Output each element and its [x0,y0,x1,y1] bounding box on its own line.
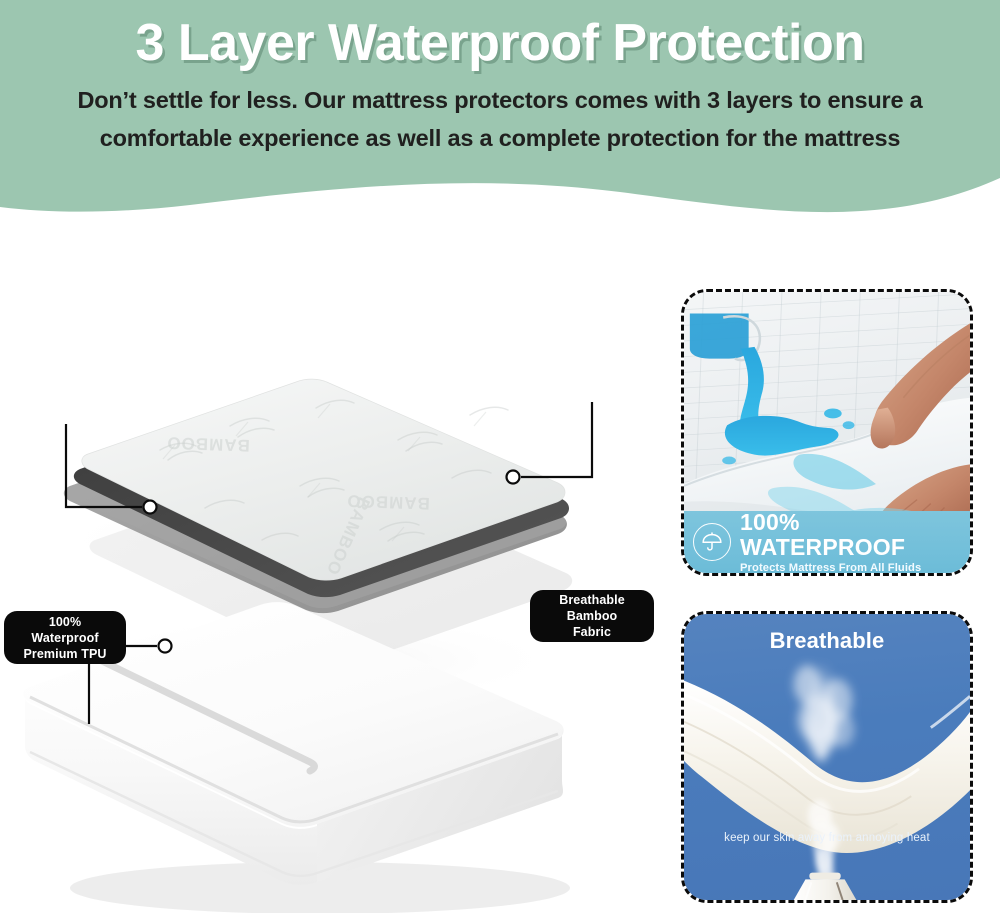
waterproof-subtitle: Protects Mattress From All Fluids [740,562,970,573]
callout-tpu-line1: 100% Waterproof [31,615,98,645]
exploded-layer-graphic: BAMBOO BAMBOO BAMBOO [0,240,670,913]
callout-label-waterproof-tpu: 100% Waterproof Premium TPU [4,611,126,664]
breathable-panel-inner: Breathable keep our skin away from annoy… [684,614,970,900]
callout-marker-zippered [159,640,172,653]
svg-text:BAMBOO: BAMBOO [166,433,250,455]
callout-marker-tpu [144,501,157,514]
header-text-wrap: 3 Layer Waterproof Protection Don’t sett… [0,0,1000,210]
umbrella-icon [693,523,731,561]
breathable-photo-illustration [684,614,970,900]
breathable-title: Breathable [684,628,970,654]
callout-marker-bamboo [507,471,520,484]
waterproof-banner-texts: 100% WATERPROOF Protects Mattress From A… [740,510,970,573]
waterproof-banner: 100% WATERPROOF Protects Mattress From A… [684,511,970,573]
page-subtitle: Don’t settle for less. Our mattress prot… [70,81,930,157]
waterproof-title: 100% WATERPROOF [740,510,970,560]
callout-bamboo-line1: Breathable Bamboo [559,593,625,623]
header-band: 3 Layer Waterproof Protection Don’t sett… [0,0,1000,232]
breathable-feature-panel: Breathable keep our skin away from annoy… [681,611,973,903]
callout-bamboo-line2: Fabric [573,625,611,639]
exploded-layer-diagram: BAMBOO BAMBOO BAMBOO [0,240,670,913]
callout-label-breathable-bamboo: Breathable Bamboo Fabric [530,590,654,642]
breathable-subtitle: keep our skin away from annoying heat [684,832,970,844]
infographic-page: 3 Layer Waterproof Protection Don’t sett… [0,0,1000,913]
waterproof-feature-panel: 100% WATERPROOF Protects Mattress From A… [681,289,973,576]
callout-line-bamboo [521,402,592,477]
callout-tpu-line2: Premium TPU [23,647,106,661]
page-title: 3 Layer Waterproof Protection [135,14,864,72]
waterproof-panel-inner: 100% WATERPROOF Protects Mattress From A… [684,292,970,573]
